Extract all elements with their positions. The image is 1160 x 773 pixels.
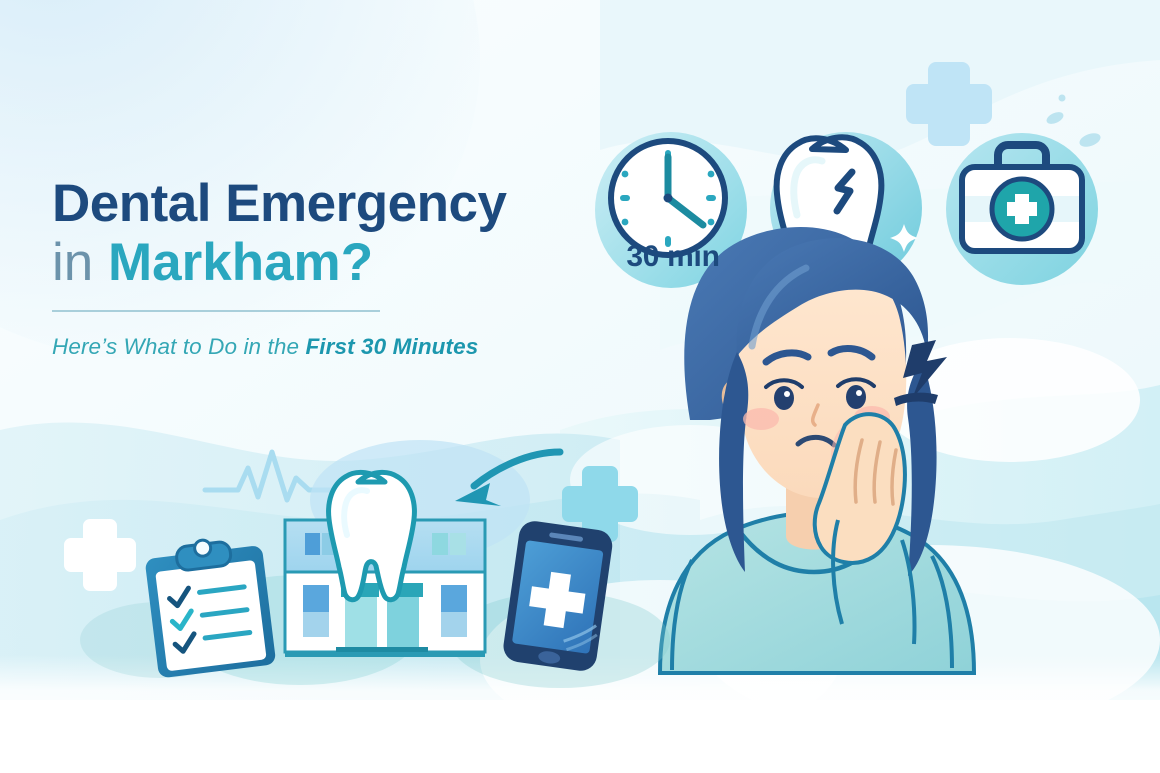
subtitle-emphasis: First 30 Minutes (305, 334, 478, 359)
page-title-city: Markham? (108, 233, 373, 292)
title-divider (52, 310, 380, 312)
bottom-illustration-group (0, 0, 1160, 773)
headline-block: Dental Emergency in Markham? Here’s What… (52, 176, 592, 360)
subtitle: Here’s What to Do in the First 30 Minute… (52, 334, 592, 360)
smartphone-emergency-call-icon (501, 519, 614, 673)
checklist-clipboard-icon (143, 533, 276, 678)
subtitle-lead: Here’s What to Do in the (52, 334, 305, 359)
page-title-line-2: in Markham? (52, 235, 592, 290)
page-title-preposition: in (52, 233, 108, 292)
clock-badge-caption: 30 min (608, 240, 738, 274)
dental-emergency-banner: Dental Emergency in Markham? Here’s What… (0, 0, 1160, 773)
page-title-line-1: Dental Emergency (52, 176, 592, 231)
